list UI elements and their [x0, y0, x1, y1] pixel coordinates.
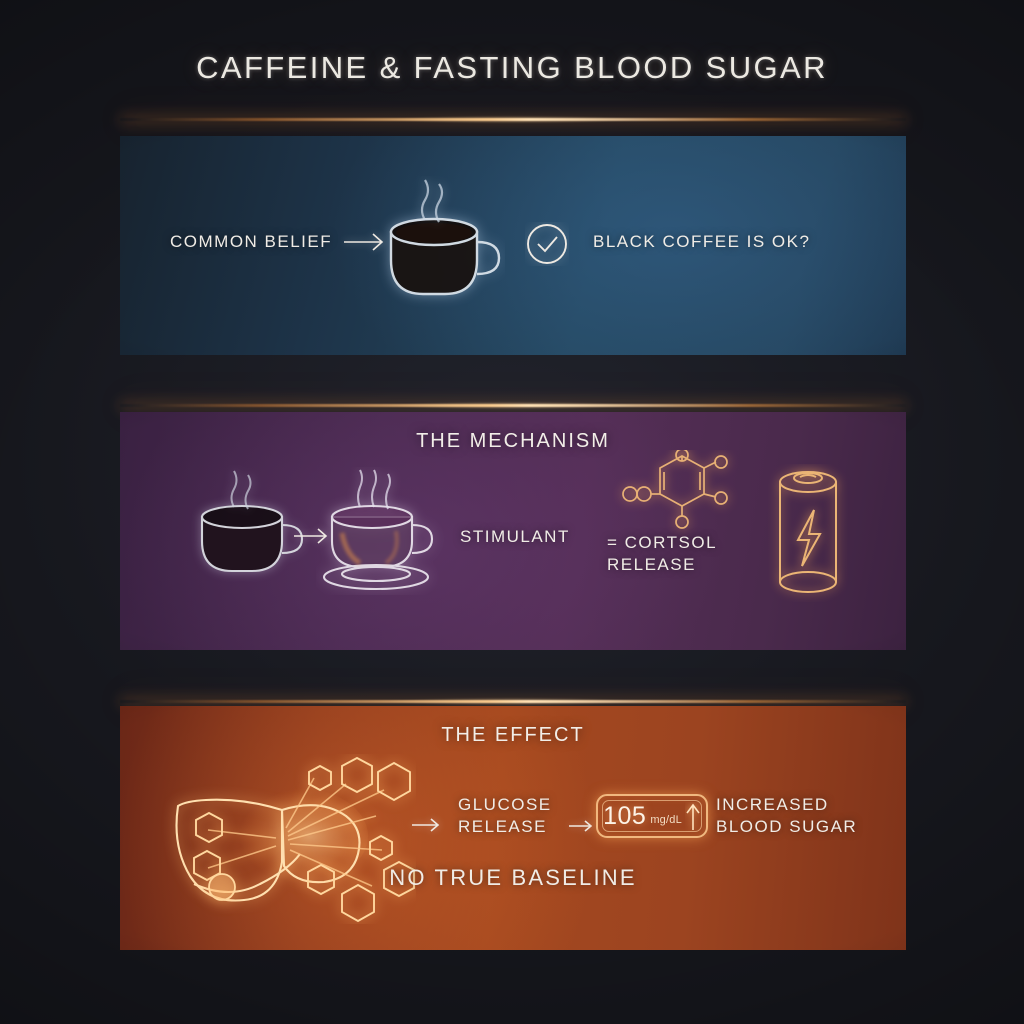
- mechanism-heading: THE MECHANISM: [120, 430, 906, 453]
- increased-blood-sugar-label: INCREASED BLOOD SUGAR: [716, 794, 857, 839]
- stimulant-label: STIMULANT: [460, 526, 570, 548]
- up-arrow-icon: [685, 802, 701, 832]
- panel-effect: THE EFFECT: [120, 706, 906, 950]
- page-title: CAFFEINE & FASTING BLOOD SUGAR: [0, 50, 1024, 86]
- panel-mechanism: THE MECHANISM: [120, 412, 906, 650]
- cortisol-release-label: = CORTSOL RELEASE: [607, 532, 717, 577]
- glucose-release-label: GLUCOSE RELEASE: [458, 794, 552, 839]
- coffee-cup-light-icon: [316, 467, 446, 595]
- divider-top: [120, 118, 906, 121]
- divider-middle: [120, 404, 906, 407]
- energy-drink-can-icon: [760, 464, 856, 602]
- coffee-cup-icon: [375, 176, 505, 316]
- liver-icon: [148, 754, 416, 924]
- check-circle-icon: [525, 222, 569, 266]
- effect-heading: THE EFFECT: [120, 724, 906, 747]
- coffee-cup-dark-icon: [190, 465, 310, 587]
- infographic-stage: CAFFEINE & FASTING BLOOD SUGAR COMMON BE…: [0, 0, 1024, 1024]
- panel-common-belief: COMMON BELIEF BLACK COFFEE IS OK?: [120, 136, 906, 355]
- divider-bottom: [120, 700, 906, 703]
- no-true-baseline-label: NO TRUE BASELINE: [120, 863, 906, 892]
- reading-unit: mg/dL: [650, 814, 682, 826]
- right-arrow-icon: [567, 818, 597, 834]
- common-belief-label: COMMON BELIEF: [170, 231, 332, 253]
- right-arrow-icon: [410, 816, 444, 834]
- reading-value: 105: [603, 802, 646, 831]
- glucose-reading-icon: 105 mg/dL: [596, 794, 708, 838]
- belief-question-label: BLACK COFFEE IS OK?: [593, 231, 810, 253]
